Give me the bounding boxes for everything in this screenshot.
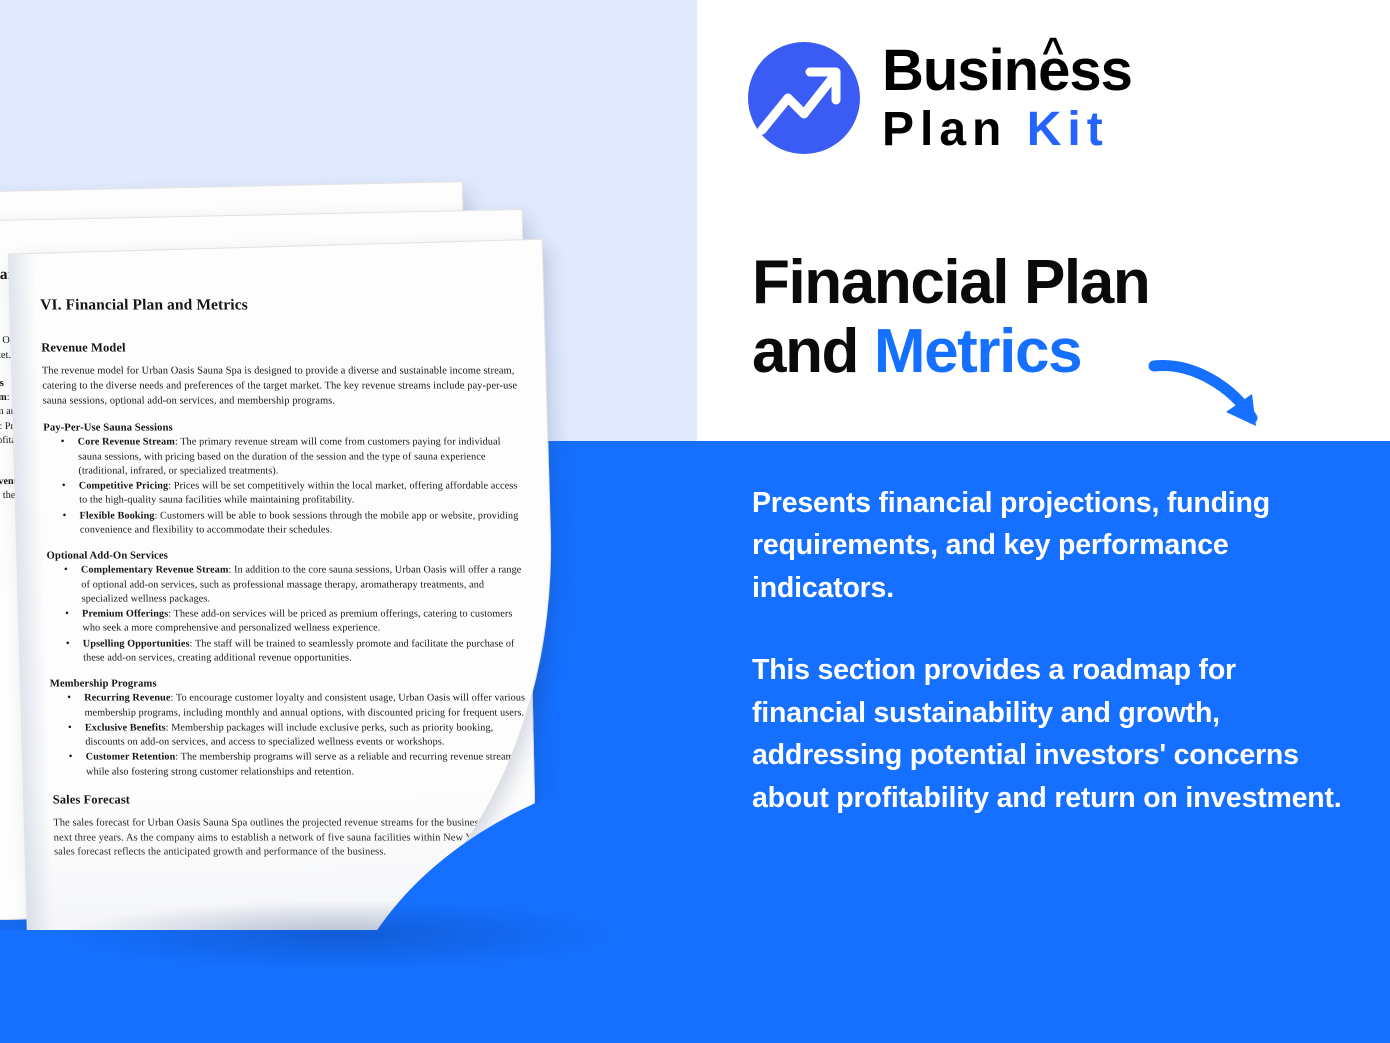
document-title: VI. Financial Plan and Metrics <box>40 297 520 315</box>
document-subheading-add-on: Optional Add-On Services <box>46 551 525 562</box>
list-item-term: Customer Retention <box>86 752 176 763</box>
brand-plan-text: Plan <box>882 103 1027 156</box>
description-paragraph-1: Presents financial projections, funding … <box>752 482 1352 609</box>
document-subheading-membership: Membership Programs <box>50 679 529 690</box>
document-subheading-pay-per-use: Pay-Per-Use Sauna Sessions <box>43 423 522 434</box>
circumflex-accent-icon: ^ <box>1042 33 1063 71</box>
list-item-term: Recurring Revenue <box>84 693 171 704</box>
list-item: Customer Retention: The membership progr… <box>52 751 532 780</box>
page-title-line2-accent: Metrics <box>874 317 1081 386</box>
document-list-add-on: Complementary Revenue Stream: In additio… <box>47 564 529 666</box>
page-title-line1: Financial Plan <box>752 248 1149 317</box>
list-item-term: Competitive Pricing <box>79 481 169 492</box>
brand-wordmark: Business ^ Plan Kit <box>882 42 1132 154</box>
brand-kit-text: Kit <box>1027 103 1109 156</box>
page-bottom-cutout <box>0 930 700 1043</box>
list-item-term: Upselling Opportunities <box>83 638 190 649</box>
list-item: Upselling Opportunities: The staff will … <box>49 637 529 666</box>
list-item-term: Exclusive Benefits <box>85 722 166 733</box>
document-forecast-heading: Sales Forecast <box>53 792 533 807</box>
page-title-line2-plain: and <box>752 317 874 386</box>
brand-business-text: Business <box>882 38 1132 103</box>
list-item-term: Complementary Revenue Stream <box>81 565 229 576</box>
brand-logo[interactable]: Business ^ Plan Kit <box>748 42 1132 154</box>
list-item: Complementary Revenue Stream: In additio… <box>47 564 527 607</box>
list-item: Recurring Revenue: To encourage customer… <box>50 692 530 721</box>
document-list-pay-per-use: Core Revenue Stream: The primary revenue… <box>44 436 526 538</box>
list-item: Core Revenue Stream: The primary revenue… <box>44 436 524 479</box>
list-item: Flexible Booking: Customers will be able… <box>45 509 525 538</box>
document-stack: VI. Financial Plan and Metrics Revenue M… <box>0 0 760 1043</box>
list-item: Premium Offerings: These add-on services… <box>48 608 528 637</box>
description-block: Presents financial projections, funding … <box>752 482 1352 819</box>
document-list-membership: Recurring Revenue: To encourage customer… <box>50 692 531 780</box>
document-section-heading: Revenue Model <box>41 341 521 356</box>
list-item-term: Premium Offerings <box>82 609 168 620</box>
document-intro-paragraph: The revenue model for Urban Oasis Sauna … <box>42 365 522 409</box>
brand-line-business: Business ^ <box>882 42 1132 100</box>
list-item-term: Flexible Booking <box>79 510 154 521</box>
list-item-term: Core Revenue Stream <box>78 437 175 448</box>
list-item: Competitive Pricing: Prices will be set … <box>45 480 525 509</box>
description-paragraph-2: This section provides a roadmap for fina… <box>752 649 1352 819</box>
brand-line-plan-kit: Plan Kit <box>882 106 1132 154</box>
list-item: Exclusive Benefits: Membership packages … <box>51 721 531 750</box>
curved-down-right-arrow-icon <box>1148 352 1278 442</box>
growth-arrow-circle-icon <box>748 42 860 154</box>
